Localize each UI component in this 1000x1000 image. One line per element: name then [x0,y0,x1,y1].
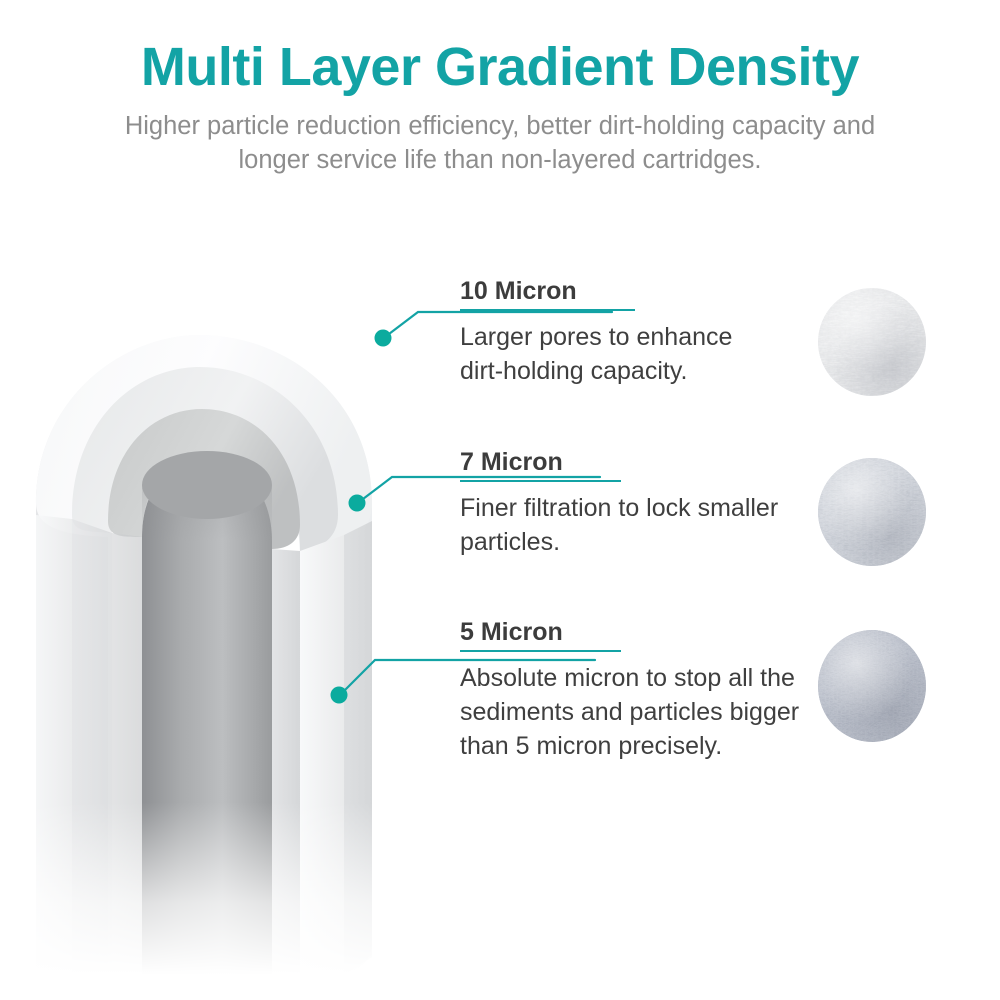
infographic-canvas: Multi Layer Gradient Density Higher part… [0,0,1000,1000]
fine-fiber-texture-sphere [818,630,926,742]
bottom-fade-mask [0,615,420,975]
callout-body-line: than 5 micron precisely. [460,729,799,763]
callout-body-10-micron: Larger pores to enhance dirt-holding cap… [460,311,732,388]
subtitle-line-1: Higher particle reduction efficiency, be… [125,112,826,140]
callout-body-line: particles. [460,525,778,559]
callout-body-line: dirt-holding capacity. [460,354,732,388]
callout-body-line: Absolute micron to stop all the [460,661,799,695]
callout-body-line: sediments and particles bigger [460,695,799,729]
sphere-shading [818,288,926,396]
page-subtitle: Higher particle reduction efficiency, be… [95,94,905,178]
callout-body-7-micron: Finer filtration to lock smaller particl… [460,482,778,559]
cutaway-filter-cartridge-illustration [0,185,420,975]
bore-top-opening [142,451,272,519]
callout-heading-5-micron: 5 Micron [460,620,621,652]
page-title: Multi Layer Gradient Density [0,0,1000,94]
callout-body-line: Larger pores to enhance [460,320,732,354]
sphere-shading [818,458,926,566]
callout-7-micron: 7 Micron Finer filtration to lock smalle… [460,450,778,559]
cartridge-body [0,335,420,975]
callout-heading-10-micron: 10 Micron [460,279,635,311]
callout-body-line: Finer filtration to lock smaller [460,491,778,525]
header: Multi Layer Gradient Density Higher part… [0,0,1000,178]
medium-fiber-texture-sphere [818,458,926,566]
sphere-shading [818,630,926,742]
coarse-fiber-texture-sphere [818,288,926,396]
callout-heading-7-micron: 7 Micron [460,450,621,482]
callout-body-5-micron: Absolute micron to stop all the sediment… [460,652,799,763]
callout-10-micron: 10 Micron Larger pores to enhance dirt-h… [460,279,732,388]
callout-5-micron: 5 Micron Absolute micron to stop all the… [460,620,799,763]
